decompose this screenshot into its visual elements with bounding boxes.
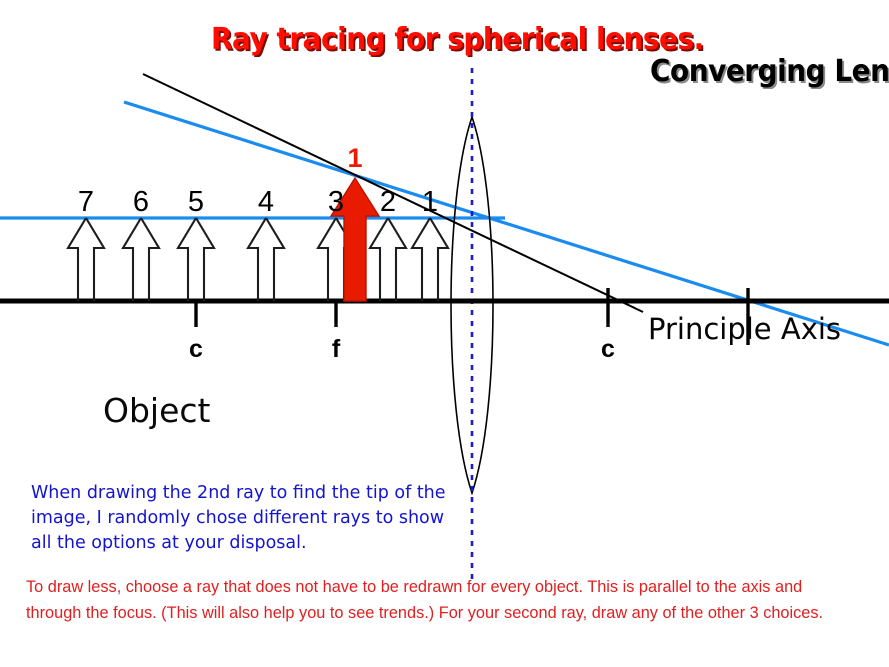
object-arrow-6	[123, 218, 159, 301]
object-number-3: 3	[328, 186, 344, 219]
ray-refracted-blue	[124, 102, 889, 345]
active-object-number: 1	[347, 143, 362, 174]
blue-explanation-note: When drawing the 2nd ray to find the tip…	[31, 481, 461, 556]
tick-label-f-left: f	[332, 335, 340, 364]
object-arrow-1	[412, 218, 448, 301]
object-number-1: 1	[422, 186, 438, 219]
object-number-2: 2	[380, 186, 396, 219]
lens-type-title: Converging Lens	[650, 55, 889, 90]
tick-label-c-left: c	[189, 335, 203, 364]
object-arrow-7	[68, 218, 104, 301]
object-arrow-group	[68, 218, 448, 301]
converging-lens-shape	[451, 117, 493, 493]
object-arrow-5	[178, 218, 214, 301]
object-arrow-2	[370, 218, 406, 301]
object-number-6: 6	[133, 186, 149, 219]
object-region-label: Object	[103, 392, 210, 430]
principal-axis-label: Principle Axis	[648, 313, 841, 346]
object-number-5: 5	[188, 186, 204, 219]
object-arrow-4	[248, 218, 284, 301]
tick-label-c-right: c	[601, 335, 615, 364]
red-tip-note: To draw less, choose a ray that does not…	[26, 574, 838, 627]
object-number-4: 4	[258, 186, 274, 219]
diagram-canvas: Ray tracing for spherical lenses. Conver…	[0, 0, 889, 667]
object-number-7: 7	[78, 186, 94, 219]
page-title: Ray tracing for spherical lenses.	[211, 23, 704, 58]
